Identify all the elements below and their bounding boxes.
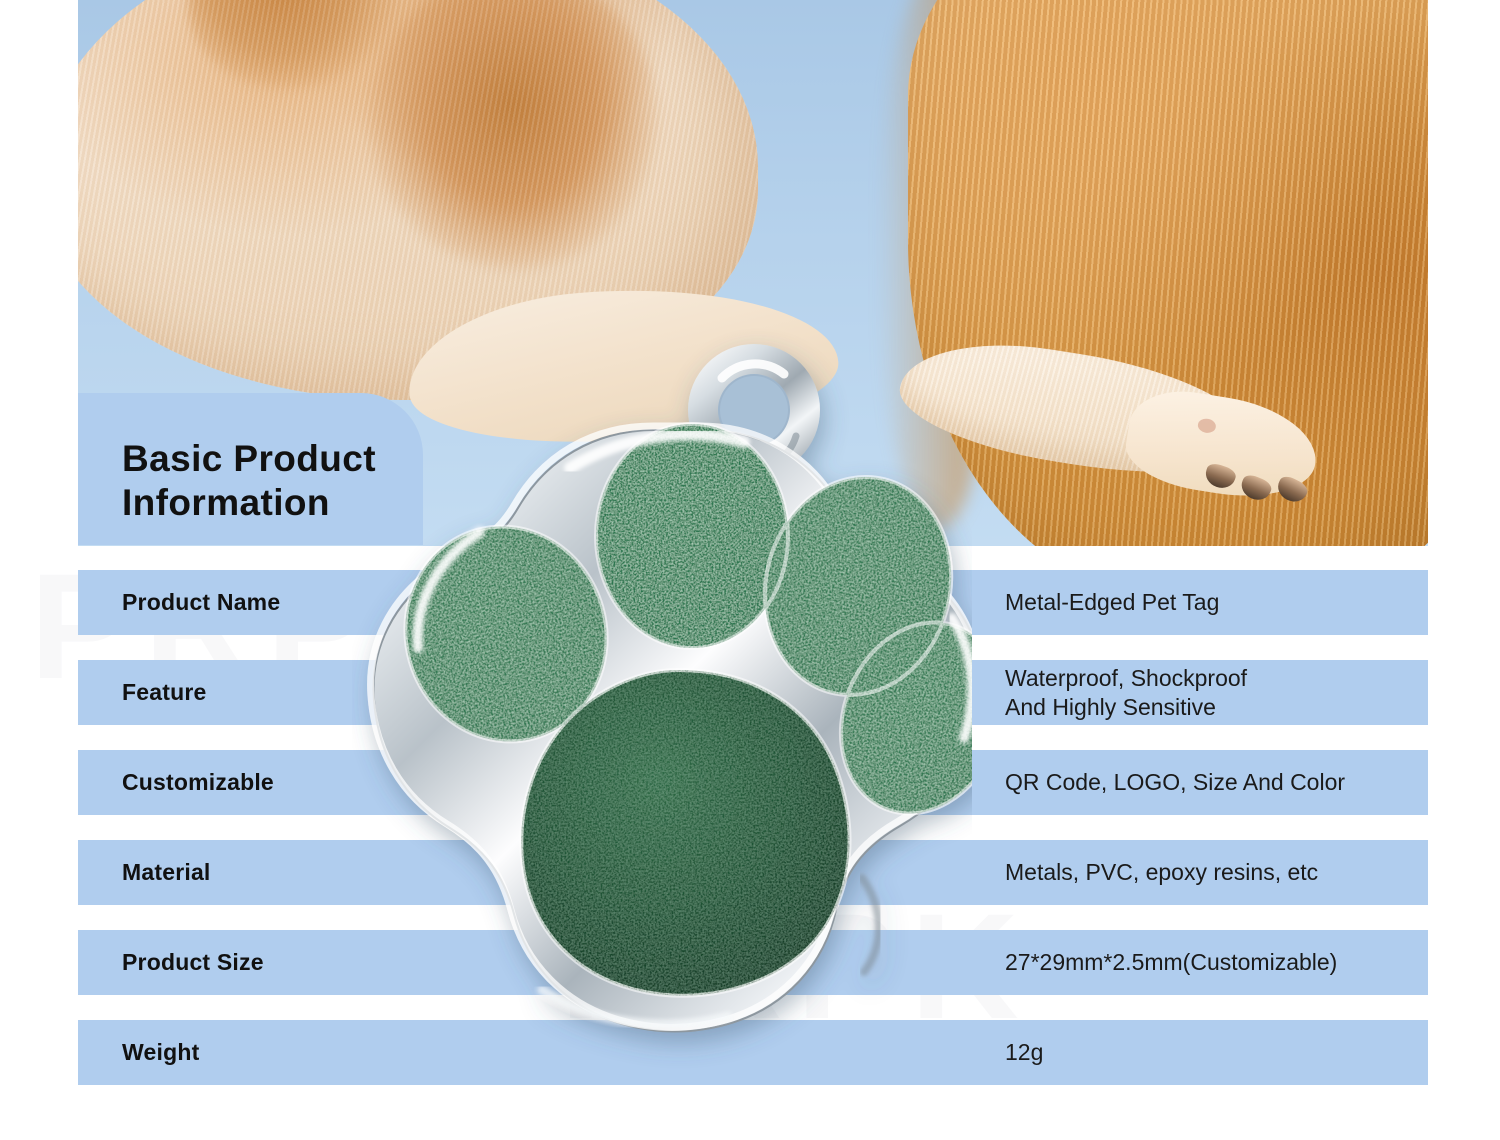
spec-label: Product Name <box>122 570 280 635</box>
page-title: Basic Product Information <box>122 437 422 524</box>
spec-value: 12g <box>1005 1020 1043 1085</box>
table-row: Product Name Metal-Edged Pet Tag <box>78 570 1428 635</box>
spec-value: Waterproof, Shockproof And Highly Sensit… <box>1005 660 1247 725</box>
fur-spot <box>188 0 398 90</box>
table-row: Product Size 27*29mm*2.5mm(Customizable) <box>78 930 1428 995</box>
spec-label: Customizable <box>122 750 274 815</box>
table-row: Weight 12g <box>78 1020 1428 1085</box>
table-row: Material Metals, PVC, epoxy resins, etc <box>78 840 1428 905</box>
spec-value: QR Code, LOGO, Size And Color <box>1005 750 1345 815</box>
table-row: Customizable QR Code, LOGO, Size And Col… <box>78 750 1428 815</box>
spec-label: Feature <box>122 660 206 725</box>
spec-table: Product Name Metal-Edged Pet Tag Feature… <box>78 570 1428 1110</box>
table-row: Feature Waterproof, Shockproof And Highl… <box>78 660 1428 725</box>
spec-value: Metal-Edged Pet Tag <box>1005 570 1219 635</box>
fur-spot <box>368 0 658 270</box>
spec-label: Product Size <box>122 930 264 995</box>
spec-label: Weight <box>122 1020 199 1085</box>
spec-value: 27*29mm*2.5mm(Customizable) <box>1005 930 1337 995</box>
spec-value: Metals, PVC, epoxy resins, etc <box>1005 840 1318 905</box>
product-info-page: PRPK PRPK PRPK Basic Product Information… <box>0 0 1500 1140</box>
section-header-badge: Basic Product Information <box>78 393 423 545</box>
spec-label: Material <box>122 840 211 905</box>
